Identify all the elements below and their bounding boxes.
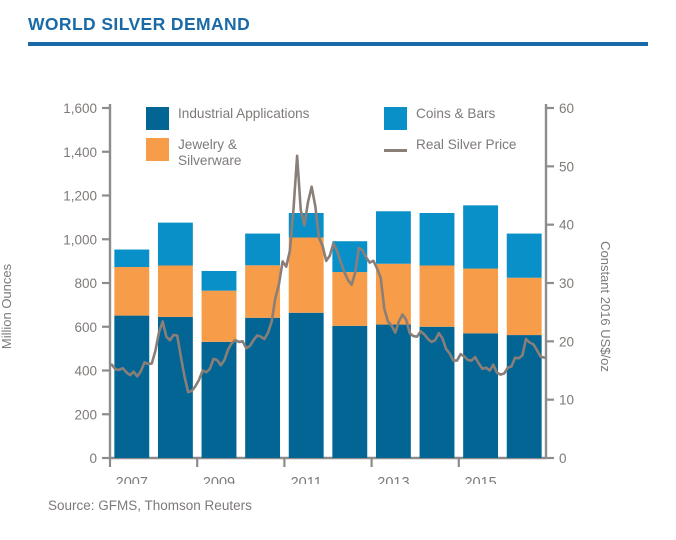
x-tick-label: 2011 xyxy=(291,475,322,484)
chart-page: WORLD SILVER DEMAND 02004006008001,0001,… xyxy=(0,0,676,540)
y2-tick-label: 10 xyxy=(559,393,574,408)
y-tick-label: 1,600 xyxy=(63,101,97,116)
bar-segment xyxy=(463,269,498,334)
y2-tick-label: 20 xyxy=(559,334,574,349)
bar-segment xyxy=(245,234,280,266)
bar-segment xyxy=(420,213,455,266)
bar-segment xyxy=(376,325,411,458)
bar-segment xyxy=(376,264,411,325)
bar-segment xyxy=(158,223,193,266)
x-tick-label: 2007 xyxy=(116,475,148,484)
bar-segment xyxy=(376,211,411,264)
y2-axis-title: Constant 2016 US$/oz xyxy=(598,241,613,372)
y-tick-label: 800 xyxy=(74,276,97,291)
source-note: Source: GFMS, Thomson Reuters xyxy=(48,498,252,513)
bar-segment xyxy=(202,291,237,342)
y-tick-label: 1,000 xyxy=(63,232,97,247)
bar-segment xyxy=(420,327,455,458)
y2-tick-label: 50 xyxy=(559,159,574,174)
x-tick-label: 2015 xyxy=(464,475,496,484)
bar-segment xyxy=(289,238,324,313)
y-tick-label: 600 xyxy=(74,320,97,335)
bar-segment xyxy=(114,250,149,268)
bar-segment xyxy=(289,313,324,458)
bar-segment xyxy=(463,333,498,458)
y-tick-label: 1,200 xyxy=(63,189,97,204)
y-tick-label: 200 xyxy=(74,407,97,422)
x-tick-label: 2013 xyxy=(377,475,409,484)
bar-segment xyxy=(114,316,149,458)
bar-group xyxy=(463,205,498,458)
bar-segment xyxy=(202,271,237,291)
y2-tick-label: 60 xyxy=(559,101,574,116)
bar-segment xyxy=(158,266,193,317)
bar-group xyxy=(114,250,149,458)
bar-segment xyxy=(420,266,455,327)
y2-tick-label: 30 xyxy=(559,276,574,291)
bar-segment xyxy=(463,205,498,268)
header-divider xyxy=(28,42,648,46)
y-axis-title: Million Ounces xyxy=(0,264,14,349)
header: WORLD SILVER DEMAND xyxy=(28,14,648,46)
y-tick-label: 0 xyxy=(89,451,97,466)
bar-segment xyxy=(507,234,542,278)
bar-segment xyxy=(114,267,149,316)
y-tick-label: 400 xyxy=(74,364,97,379)
y-tick-label: 1,400 xyxy=(63,145,97,160)
stacked-bar-chart: 02004006008001,0001,2001,4001,6000102030… xyxy=(0,84,676,484)
bar-group xyxy=(376,211,411,458)
page-title: WORLD SILVER DEMAND xyxy=(28,14,648,35)
bar-segment xyxy=(332,272,367,326)
chart-container: 02004006008001,0001,2001,4001,6000102030… xyxy=(0,84,676,484)
bar-group xyxy=(158,223,193,458)
bar-segment xyxy=(507,278,542,335)
y2-tick-label: 40 xyxy=(559,218,574,233)
bar-group xyxy=(332,241,367,458)
bar-segment xyxy=(507,335,542,458)
y2-tick-label: 0 xyxy=(559,451,567,466)
bar-group xyxy=(289,213,324,458)
x-tick-label: 2009 xyxy=(203,475,235,484)
bar-segment xyxy=(332,326,367,458)
bar-segment xyxy=(245,265,280,318)
bar-segment xyxy=(202,342,237,458)
